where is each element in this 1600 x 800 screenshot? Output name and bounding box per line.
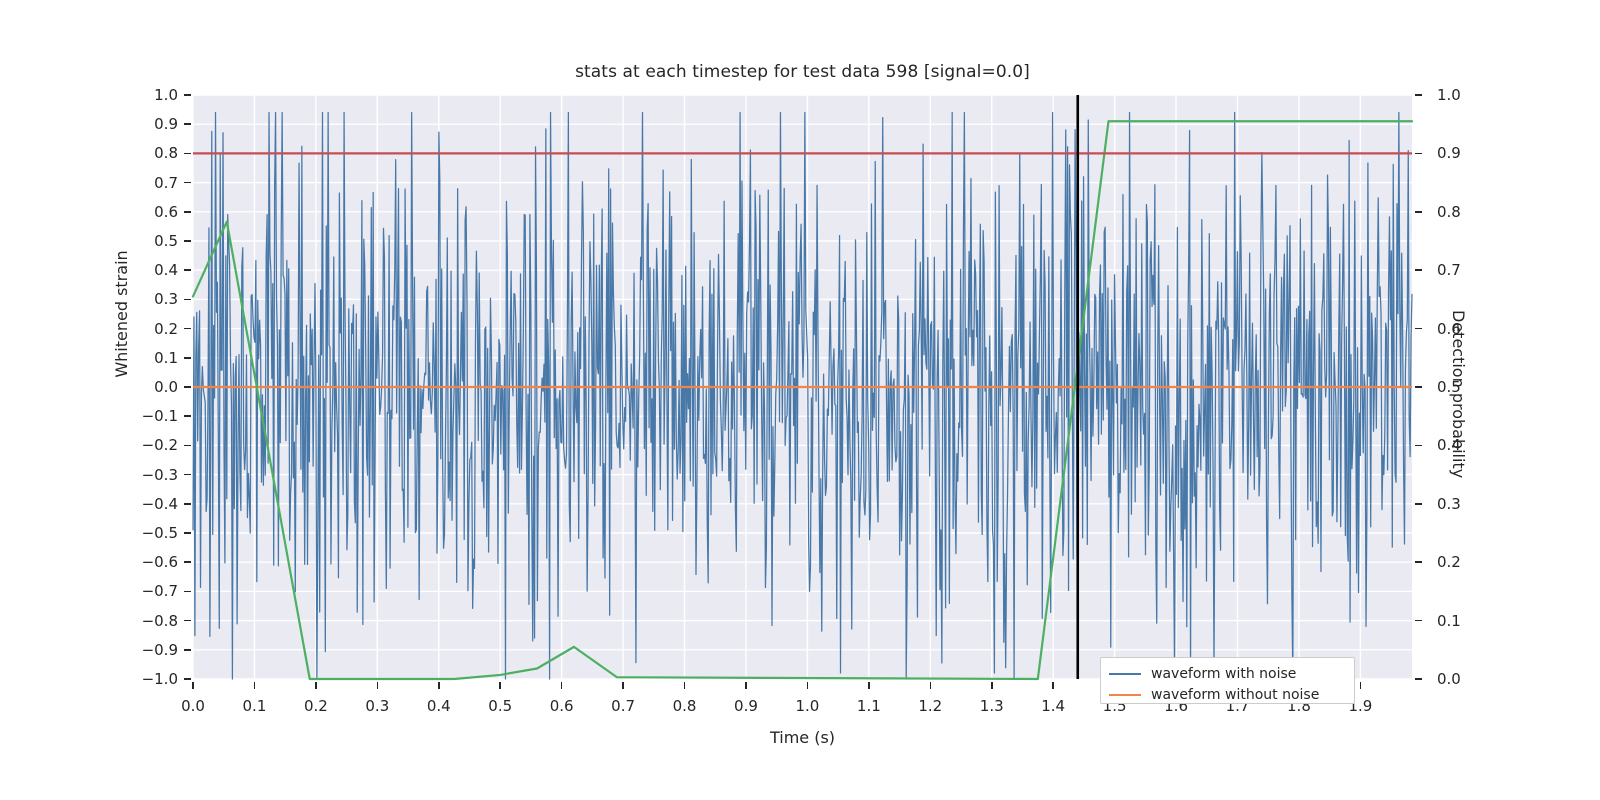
y-tick-label-left: −0.3: [140, 466, 178, 484]
y-tick-mark-left: [184, 474, 191, 476]
y-tick-mark-left: [184, 649, 191, 651]
x-tick-mark: [561, 682, 563, 689]
x-tick-mark: [499, 682, 501, 689]
x-tick-mark: [1052, 682, 1054, 689]
y-tick-label-left: −0.6: [140, 553, 178, 571]
y-tick-label-right: 0.6: [1437, 320, 1461, 338]
legend-label-waveform-without-noise: waveform without noise: [1151, 687, 1319, 703]
y-tick-label-right: 0.7: [1437, 261, 1461, 279]
x-tick-label: 1.3: [980, 697, 1004, 715]
x-tick-label: 0.6: [550, 697, 574, 715]
x-tick-mark: [192, 682, 194, 689]
y-tick-label-right: 0.1: [1437, 612, 1461, 630]
x-tick-mark: [868, 682, 870, 689]
y-tick-mark-right: [1415, 386, 1422, 388]
y-tick-mark-left: [184, 386, 191, 388]
y-tick-label-left: 0.0: [140, 378, 178, 396]
y-tick-label-left: 0.4: [140, 261, 178, 279]
y-tick-label-right: 0.9: [1437, 144, 1461, 162]
legend-item-waveform-with-noise: waveform with noise: [1109, 664, 1346, 684]
y-tick-mark-right: [1415, 678, 1422, 680]
y-tick-label-right: 0.8: [1437, 203, 1461, 221]
y-tick-mark-right: [1415, 94, 1422, 96]
x-tick-mark: [315, 682, 317, 689]
y-tick-label-left: 0.7: [140, 174, 178, 192]
y-tick-mark-left: [184, 620, 191, 622]
y-tick-mark-left: [184, 211, 191, 213]
y-tick-label-right: 1.0: [1437, 86, 1461, 104]
y-tick-label-left: 0.8: [140, 144, 178, 162]
y-tick-mark-right: [1415, 620, 1422, 622]
y-tick-label-left: 0.1: [140, 349, 178, 367]
y-tick-mark-left: [184, 678, 191, 680]
y-tick-mark-left: [184, 532, 191, 534]
y-tick-mark-right: [1415, 445, 1422, 447]
y-tick-mark-right: [1415, 561, 1422, 563]
y-tick-mark-left: [184, 94, 191, 96]
x-tick-label: 0.4: [427, 697, 451, 715]
x-tick-mark: [1360, 682, 1362, 689]
x-tick-label: 0.3: [365, 697, 389, 715]
x-tick-label: 0.8: [673, 697, 697, 715]
y-tick-mark-left: [184, 240, 191, 242]
y-tick-mark-left: [184, 561, 191, 563]
y-tick-mark-left: [184, 415, 191, 417]
y-tick-mark-left: [184, 182, 191, 184]
y-tick-label-left: −0.2: [140, 436, 178, 454]
legend-label-waveform-with-noise: waveform with noise: [1151, 666, 1296, 682]
y-tick-label-left: 0.5: [140, 232, 178, 250]
x-tick-mark: [745, 682, 747, 689]
x-tick-mark: [807, 682, 809, 689]
y-tick-label-left: −1.0: [140, 670, 178, 688]
x-tick-label: 1.4: [1041, 697, 1065, 715]
x-tick-label: 0.9: [734, 697, 758, 715]
x-tick-label: 0.5: [488, 697, 512, 715]
x-tick-mark: [930, 682, 932, 689]
figure-canvas: stats at each timestep for test data 598…: [0, 0, 1600, 800]
y-tick-label-left: −0.5: [140, 524, 178, 542]
x-tick-label: 0.1: [243, 697, 267, 715]
y-tick-mark-right: [1415, 211, 1422, 213]
y-tick-label-left: 0.3: [140, 290, 178, 308]
y-tick-label-right: 0.4: [1437, 436, 1461, 454]
y-tick-mark-left: [184, 269, 191, 271]
y-tick-label-left: −0.1: [140, 407, 178, 425]
x-tick-mark: [622, 682, 624, 689]
y-tick-mark-left: [184, 445, 191, 447]
y-tick-mark-left: [184, 153, 191, 155]
y-tick-mark-left: [184, 357, 191, 359]
y-tick-label-left: −0.9: [140, 641, 178, 659]
y-tick-label-right: 0.5: [1437, 378, 1461, 396]
y-tick-label-left: 0.6: [140, 203, 178, 221]
y-tick-mark-right: [1415, 153, 1422, 155]
y-tick-label-left: 0.9: [140, 115, 178, 133]
legend-swatch-blue: [1109, 673, 1141, 675]
y-tick-mark-right: [1415, 269, 1422, 271]
x-tick-label: 0.2: [304, 697, 328, 715]
y-tick-label-left: 1.0: [140, 86, 178, 104]
y-tick-mark-right: [1415, 503, 1422, 505]
legend-swatch-orange: [1109, 694, 1141, 696]
x-tick-label: 1.2: [918, 697, 942, 715]
x-tick-mark: [438, 682, 440, 689]
legend-item-waveform-without-noise: waveform without noise: [1109, 685, 1346, 705]
x-tick-label: 0.7: [611, 697, 635, 715]
y-tick-mark-left: [184, 591, 191, 593]
x-tick-mark: [684, 682, 686, 689]
y-tick-mark-left: [184, 328, 191, 330]
y-tick-mark-left: [184, 299, 191, 301]
x-tick-mark: [377, 682, 379, 689]
x-tick-label: 0.0: [181, 697, 205, 715]
y-tick-mark-left: [184, 123, 191, 125]
y-tick-label-left: −0.7: [140, 582, 178, 600]
x-tick-label: 1.0: [795, 697, 819, 715]
y-tick-label-right: 0.2: [1437, 553, 1461, 571]
plot-area: [0, 0, 1600, 800]
x-tick-mark: [991, 682, 993, 689]
y-tick-label-left: 0.2: [140, 320, 178, 338]
y-tick-mark-right: [1415, 328, 1422, 330]
y-tick-label-left: −0.4: [140, 495, 178, 513]
y-tick-label-right: 0.0: [1437, 670, 1461, 688]
y-tick-label-left: −0.8: [140, 612, 178, 630]
y-tick-label-right: 0.3: [1437, 495, 1461, 513]
x-tick-mark: [254, 682, 256, 689]
legend: waveform with noise waveform without noi…: [1100, 657, 1355, 704]
x-tick-label: 1.1: [857, 697, 881, 715]
y-tick-mark-left: [184, 503, 191, 505]
